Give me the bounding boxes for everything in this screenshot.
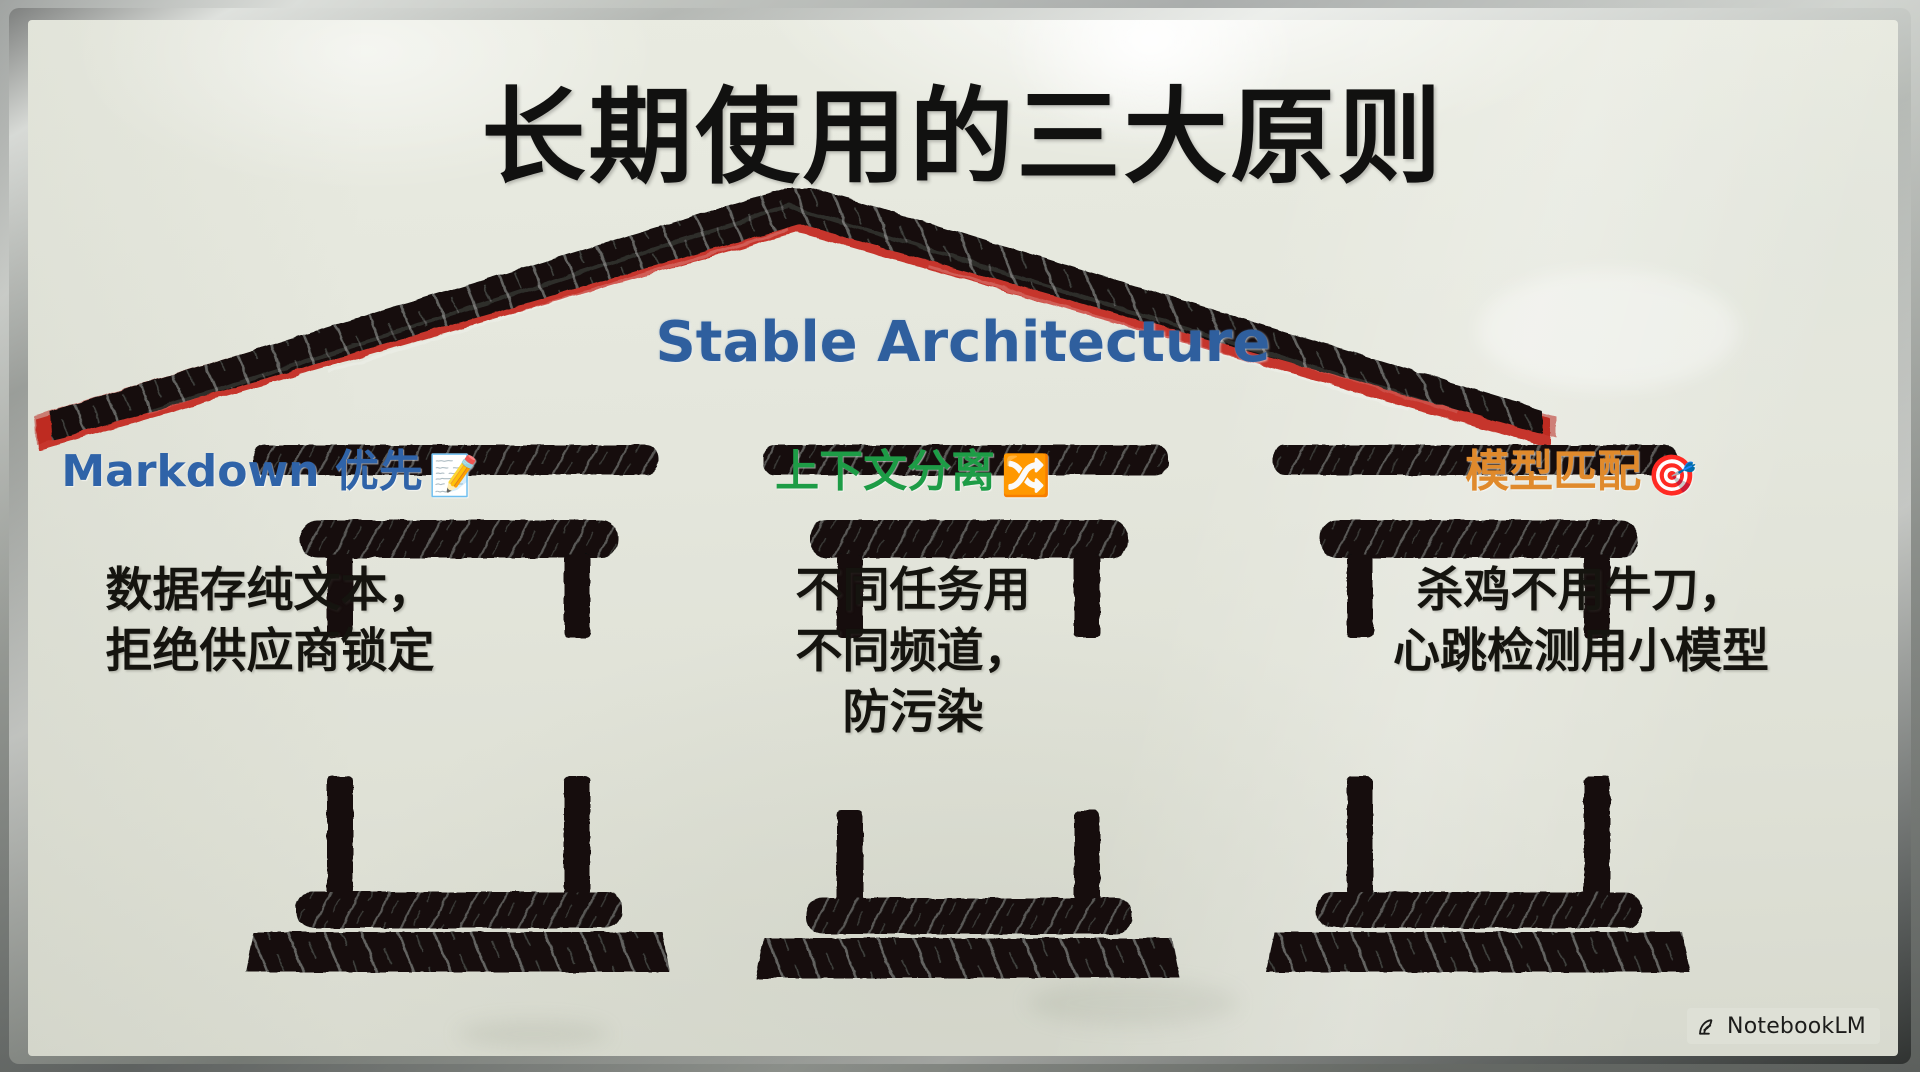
column-header-label: Markdown 优先 xyxy=(61,446,422,497)
column-body-markdown: 数据存纯文本， 拒绝供应商锁定 xyxy=(35,560,505,682)
column-body-model: 杀鸡不用牛刀， 心跳检测用小模型 xyxy=(1346,560,1816,682)
notebooklm-label: NotebookLM xyxy=(1727,1014,1866,1039)
notebooklm-spark-icon xyxy=(1697,1015,1720,1038)
target-dart-icon: 🎯 xyxy=(1647,453,1697,499)
column-header-label: 模型匹配 xyxy=(1465,446,1641,497)
column-header-model: 模型匹配🎯 xyxy=(1346,435,1816,499)
whiteboard-surface: 长期使用的三大原则 xyxy=(28,20,1898,1056)
notebooklm-watermark: NotebookLM xyxy=(1687,1008,1880,1044)
whiteboard-frame: 长期使用的三大原则 xyxy=(0,0,1920,1072)
shuffle-arrows-icon: 🔀 xyxy=(1001,453,1051,499)
column-header-markdown: Markdown 优先📝 xyxy=(35,435,505,499)
column-header-context: 上下文分离🔀 xyxy=(678,435,1148,499)
memo-pencil-icon: 📝 xyxy=(429,453,479,499)
roof-label: Stable Architecture xyxy=(28,310,1898,375)
column-header-label: 上下文分离 xyxy=(775,446,995,497)
page-title: 长期使用的三大原则 xyxy=(28,52,1898,203)
column-body-context: 不同任务用 不同频道， 防污染 xyxy=(678,560,1148,743)
